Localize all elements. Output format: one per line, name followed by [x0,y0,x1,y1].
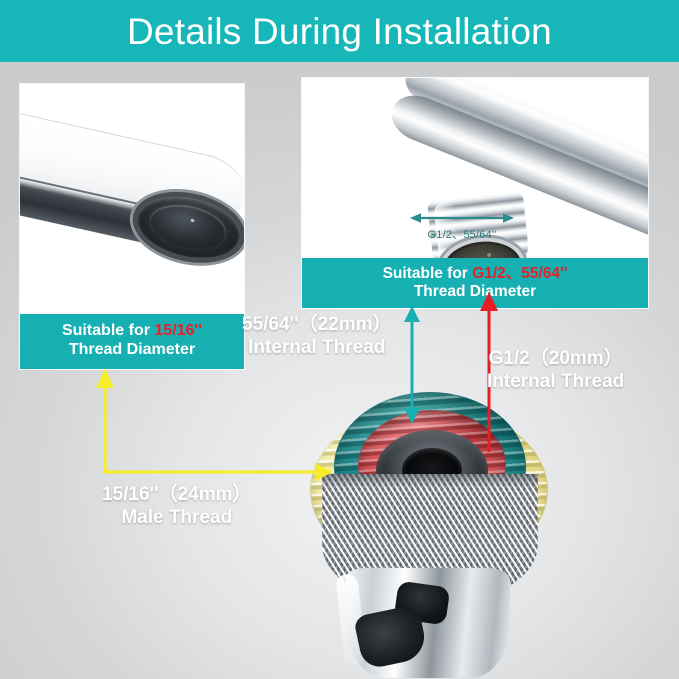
yellow-annotation-arrow [96,368,333,481]
spout-outlet-bore [145,198,230,256]
left-caption-line2: Thread Diameter [22,341,242,360]
annotation-15-16-line1: 15/16''（24mm） [102,484,252,507]
page-title: Details During Installation [127,13,552,50]
annotation-g1-2-internal-thread: G1/2（20mm） Internal Thread [487,348,624,394]
annotation-g1-2-line1: G1/2（20mm） [487,348,624,371]
annotation-55-64-line1: 55/64''（22mm） [242,314,392,337]
right-caption-line2: Thread Diameter [304,283,646,301]
annotation-g1-2-line2: Internal Thread [487,371,624,394]
annotation-55-64-internal-thread: 55/64''（22mm） Internal Thread [242,314,392,360]
outlet-specular-dot [190,219,195,223]
annotation-55-64-line2: Internal Thread [242,337,392,360]
faucet-bar-spout [20,110,244,291]
left-caption-highlight: 15/16'' [154,322,202,339]
right-measurement-dimension: G1/2、55/64'' [410,211,514,242]
right-measurement-label: G1/2、55/64'' [410,226,514,242]
annotation-15-16-male-thread: 15/16''（24mm） Male Thread [102,484,252,530]
left-caption-prefix: Suitable for [62,322,154,339]
right-panel-caption: Suitable for G1/2、55/64'' Thread Diamete… [302,258,648,308]
left-detail-panel: 15/16'' Suitable for 15/16'' Thread Diam… [20,84,244,369]
left-panel-caption: Suitable for 15/16'' Thread Diameter [20,314,244,369]
header-bar: Details During Installation [0,0,679,62]
faucet-adapter [300,378,560,678]
right-caption-highlight: G1/2、55/64'' [472,265,567,282]
infographic-stage: Details During Installation 15/16 [0,0,679,679]
annotation-15-16-line2: Male Thread [102,507,252,530]
left-caption-line1: Suitable for 15/16'' [22,322,242,341]
right-caption-prefix: Suitable for [383,265,473,282]
double-arrow-icon [410,211,514,225]
right-caption-line1: Suitable for G1/2、55/64'' [304,265,646,283]
right-detail-panel: G1/2、55/64'' Suitable for G1/2、55/64'' T… [302,78,648,308]
